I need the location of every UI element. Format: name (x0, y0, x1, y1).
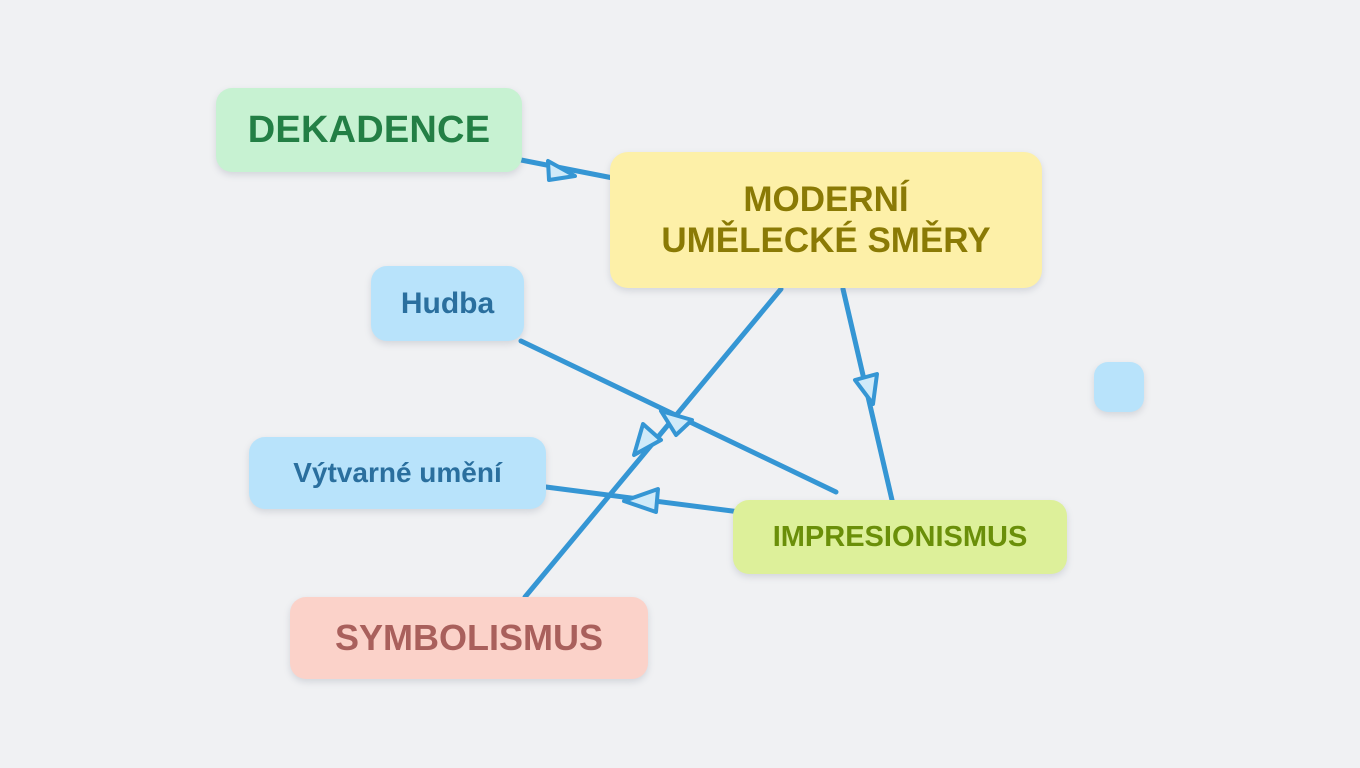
node-symbolismus-label: SYMBOLISMUS (335, 617, 603, 659)
node-impresionismus[interactable]: IMPRESIONISMUS (733, 500, 1067, 574)
node-vytvarne-umeni-label: Výtvarné umění (293, 456, 502, 489)
edge-central-to-impresionismus (843, 289, 892, 500)
node-dekadence[interactable]: DEKADENCE (216, 88, 522, 172)
node-moderni-umelecke-smery-label: MODERNÍ UMĚLECKÉ SMĚRY (661, 179, 990, 262)
edge-impresionismus-to-vytvarne (546, 487, 740, 512)
node-moderni-umelecke-smery[interactable]: MODERNÍ UMĚLECKÉ SMĚRY (610, 152, 1042, 288)
node-hudba-label: Hudba (401, 286, 494, 321)
node-empty-placeholder[interactable] (1094, 362, 1144, 412)
node-dekadence-label: DEKADENCE (248, 108, 491, 153)
edge-dekadence-to-central (521, 160, 613, 180)
node-impresionismus-label: IMPRESIONISMUS (773, 520, 1028, 554)
edge-impresionismus-to-hudba (521, 341, 836, 492)
node-symbolismus[interactable]: SYMBOLISMUS (290, 597, 648, 679)
edge-layer (0, 0, 1360, 768)
node-vytvarne-umeni[interactable]: Výtvarné umění (249, 437, 546, 509)
node-hudba[interactable]: Hudba (371, 266, 524, 341)
mindmap-canvas: DEKADENCE MODERNÍ UMĚLECKÉ SMĚRY Hudba V… (0, 0, 1360, 768)
